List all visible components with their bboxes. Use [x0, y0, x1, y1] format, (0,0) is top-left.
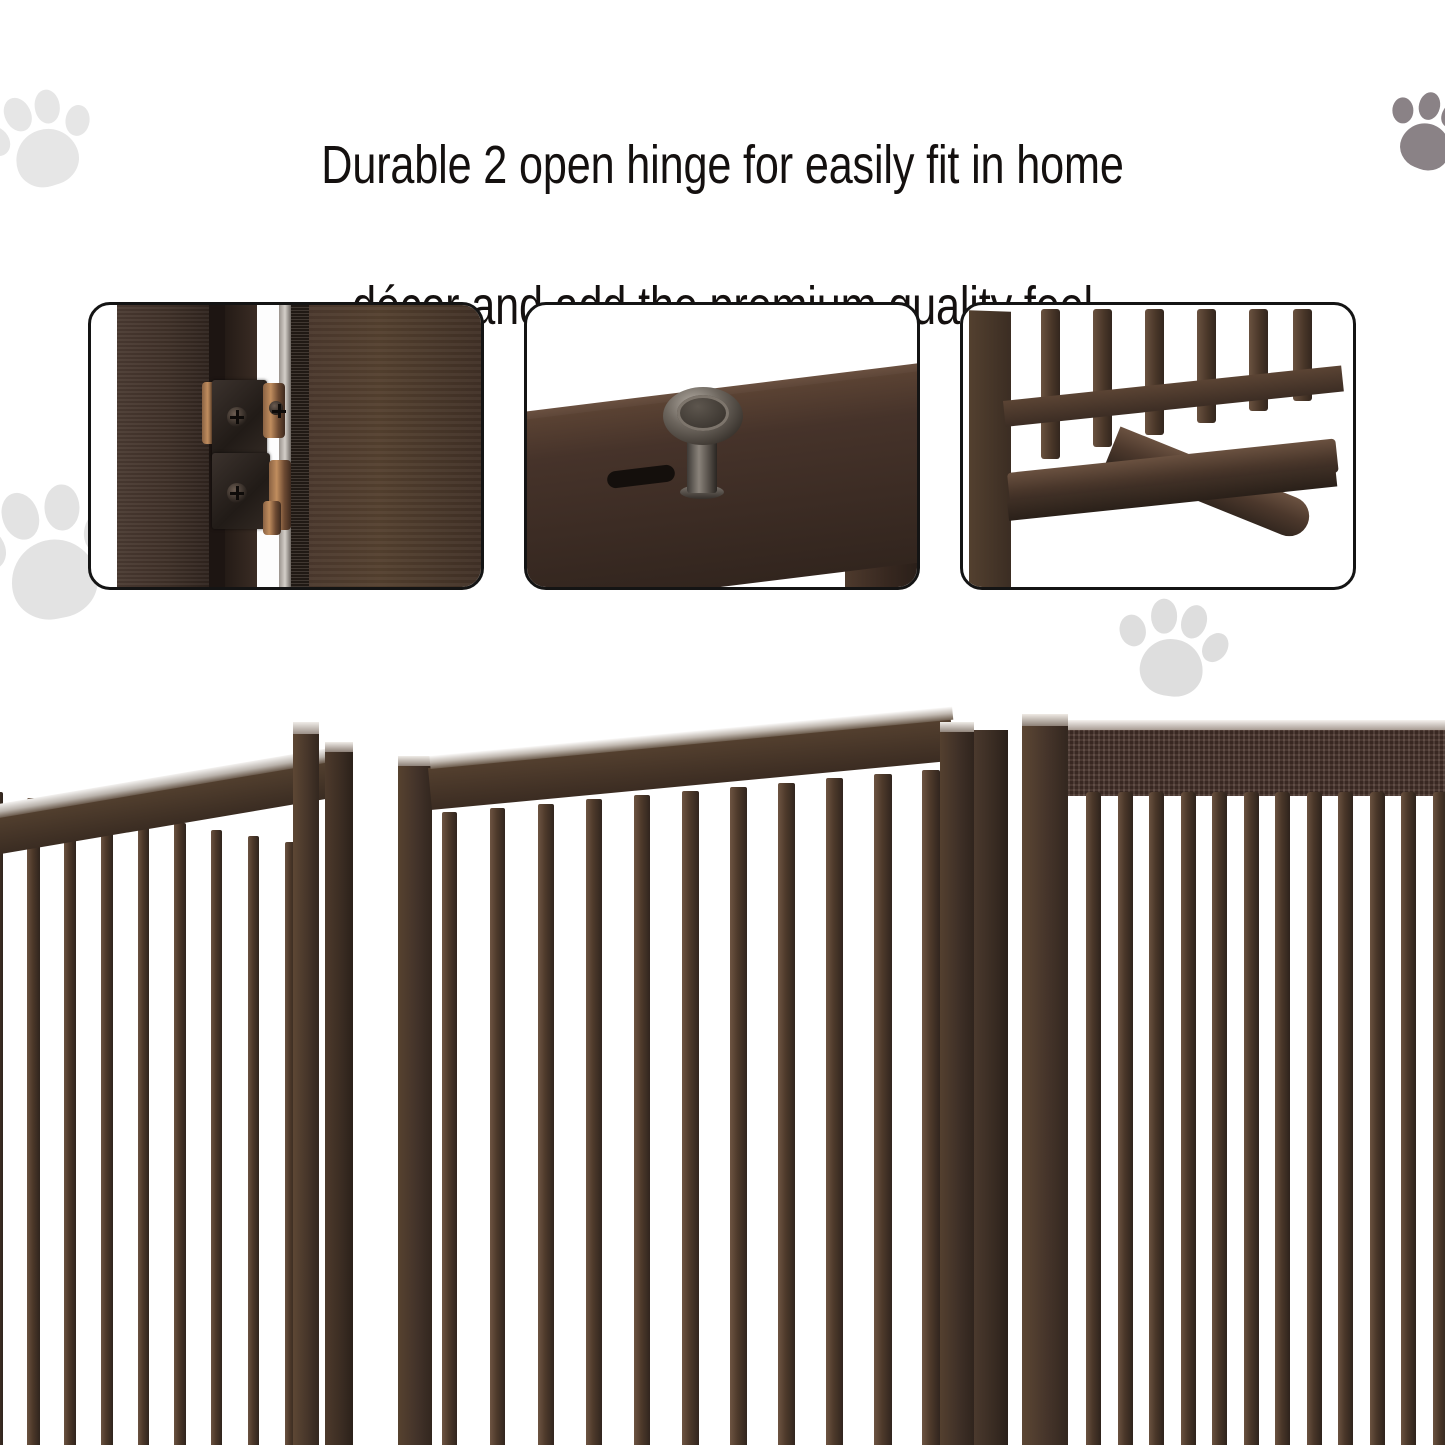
textured-edge [291, 305, 309, 587]
page-title: Durable 2 open hinge for easily fit in h… [145, 60, 1301, 341]
paw-print-icon [0, 62, 114, 213]
paw-print-icon [1368, 68, 1445, 193]
gate-slat [826, 778, 843, 1445]
paw-pad [1394, 116, 1445, 177]
hinge-screw-barrel-upper [269, 401, 283, 415]
paw-toe [1151, 599, 1177, 634]
gate-panel-right-top-edge [1068, 720, 1445, 730]
knob-latch-image [527, 305, 917, 587]
paw-toe [32, 88, 62, 125]
gate-slat [1118, 792, 1133, 1445]
wood-panel-left [117, 305, 209, 587]
paw-pad [1136, 635, 1206, 701]
paw-toe [1177, 601, 1211, 641]
feature-image-canvas: Durable 2 open hinge for easily fit in h… [0, 0, 1445, 1445]
paw-toe [1392, 97, 1413, 123]
gate-slat [442, 812, 457, 1445]
detail-panel-support-foot [960, 302, 1356, 590]
gate-slat [1275, 792, 1290, 1445]
paw-pad [8, 121, 85, 195]
paw-toe [0, 520, 14, 577]
gate-slat [101, 811, 113, 1445]
gate-slat [1433, 792, 1445, 1445]
gate-slat [586, 799, 602, 1445]
gate-slat [682, 791, 699, 1445]
slat [1093, 309, 1112, 447]
main-product-photo [0, 700, 1445, 1445]
gate-panel-left-corner-post [293, 728, 319, 1445]
paw-toe [0, 93, 37, 136]
headline-line-1: Durable 2 open hinge for easily fit in h… [321, 135, 1123, 195]
gate-slat [1307, 792, 1322, 1445]
gate-slat [1338, 792, 1353, 1445]
hinge-screw-upper [227, 407, 247, 427]
gate-slat [778, 783, 795, 1445]
hinge-barrel-lower-2 [263, 501, 281, 535]
gate-slat [138, 817, 150, 1445]
gate-slat [1149, 792, 1164, 1445]
gate-slat [64, 805, 76, 1445]
gate-slat [874, 774, 892, 1445]
gate-slat [634, 795, 650, 1445]
gate-panel-right-hinge-post-top [1022, 714, 1068, 726]
hinge-screw-lower [227, 483, 247, 503]
gate-slat [922, 770, 940, 1445]
gate-slat [1244, 792, 1259, 1445]
gate-panel-middle-left-post [325, 748, 353, 1445]
gate-slat [27, 798, 40, 1445]
gate-slat [1086, 792, 1101, 1445]
paw-toe [64, 103, 92, 137]
paw-print-icon [1104, 578, 1240, 714]
gate-panel-middle-far-post [940, 728, 974, 1445]
gate-panel-right-edge-post [974, 730, 1008, 1445]
support-foot-image [963, 305, 1353, 587]
gate-slat [211, 830, 222, 1445]
knob-ring [677, 395, 729, 431]
gate-slat [490, 808, 505, 1445]
panel-side-post [969, 310, 1011, 587]
gate-slat [0, 792, 3, 1445]
gate-panel-middle-left-post-top [325, 742, 353, 752]
gate-panel-right-top-rail [1068, 728, 1445, 796]
gate-panel-middle-hinge-post [398, 762, 432, 1445]
gate-slat [1181, 792, 1196, 1445]
gate-panel-left-corner-post-top [293, 722, 319, 734]
gate-slat [174, 823, 185, 1445]
detail-panel-hinge-closeup [88, 302, 484, 590]
gate-slat [1212, 792, 1227, 1445]
slat [1041, 309, 1060, 459]
detail-panel-strip [88, 302, 1356, 590]
gate-slat [730, 787, 747, 1445]
gate-slat [1401, 792, 1416, 1445]
detail-panel-knob-latch [524, 302, 920, 590]
gate-panel-middle-hinge-post-top [398, 756, 432, 766]
paw-toe [1197, 628, 1234, 667]
wood-panel-right [309, 305, 481, 587]
gate-slat [248, 836, 259, 1445]
paw-toe [1116, 611, 1149, 649]
paw-toe [0, 120, 17, 162]
hinge-pin-strip [279, 305, 291, 587]
gate-slat [1370, 792, 1385, 1445]
gate-panel-right-hinge-post [1022, 722, 1068, 1445]
hinge-closeup-image [91, 305, 481, 587]
gate-panel-middle-far-post-top [940, 722, 974, 732]
slat [1145, 309, 1164, 435]
gate-slat [538, 804, 554, 1445]
paw-toe [0, 487, 46, 544]
paw-toe [1416, 89, 1443, 121]
paw-toe [44, 484, 80, 531]
paw-toe [1436, 98, 1445, 131]
